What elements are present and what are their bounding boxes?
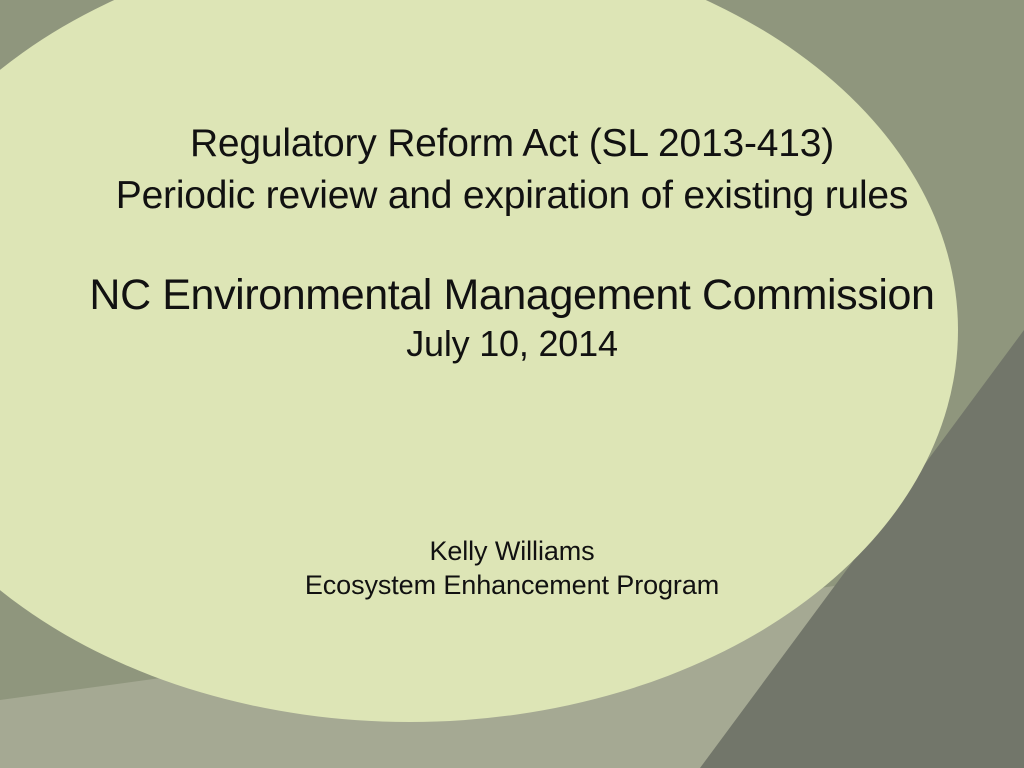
slide-content: Regulatory Reform Act (SL 2013-413) Peri… (0, 0, 1024, 768)
presentation-date: July 10, 2014 (0, 321, 1024, 367)
title-line-1: Regulatory Reform Act (SL 2013-413) (0, 118, 1024, 170)
presenter-name: Kelly Williams (0, 534, 1024, 568)
slide-title: Regulatory Reform Act (SL 2013-413) Peri… (0, 118, 1024, 222)
title-line-2: Periodic review and expiration of existi… (0, 170, 1024, 222)
presentation-slide: Regulatory Reform Act (SL 2013-413) Peri… (0, 0, 1024, 768)
organization-name: NC Environmental Management Commission (0, 269, 1024, 321)
presenter-organization: Ecosystem Enhancement Program (0, 568, 1024, 602)
slide-subtitle: NC Environmental Management Commission J… (0, 269, 1024, 367)
presenter-credit: Kelly Williams Ecosystem Enhancement Pro… (0, 534, 1024, 602)
